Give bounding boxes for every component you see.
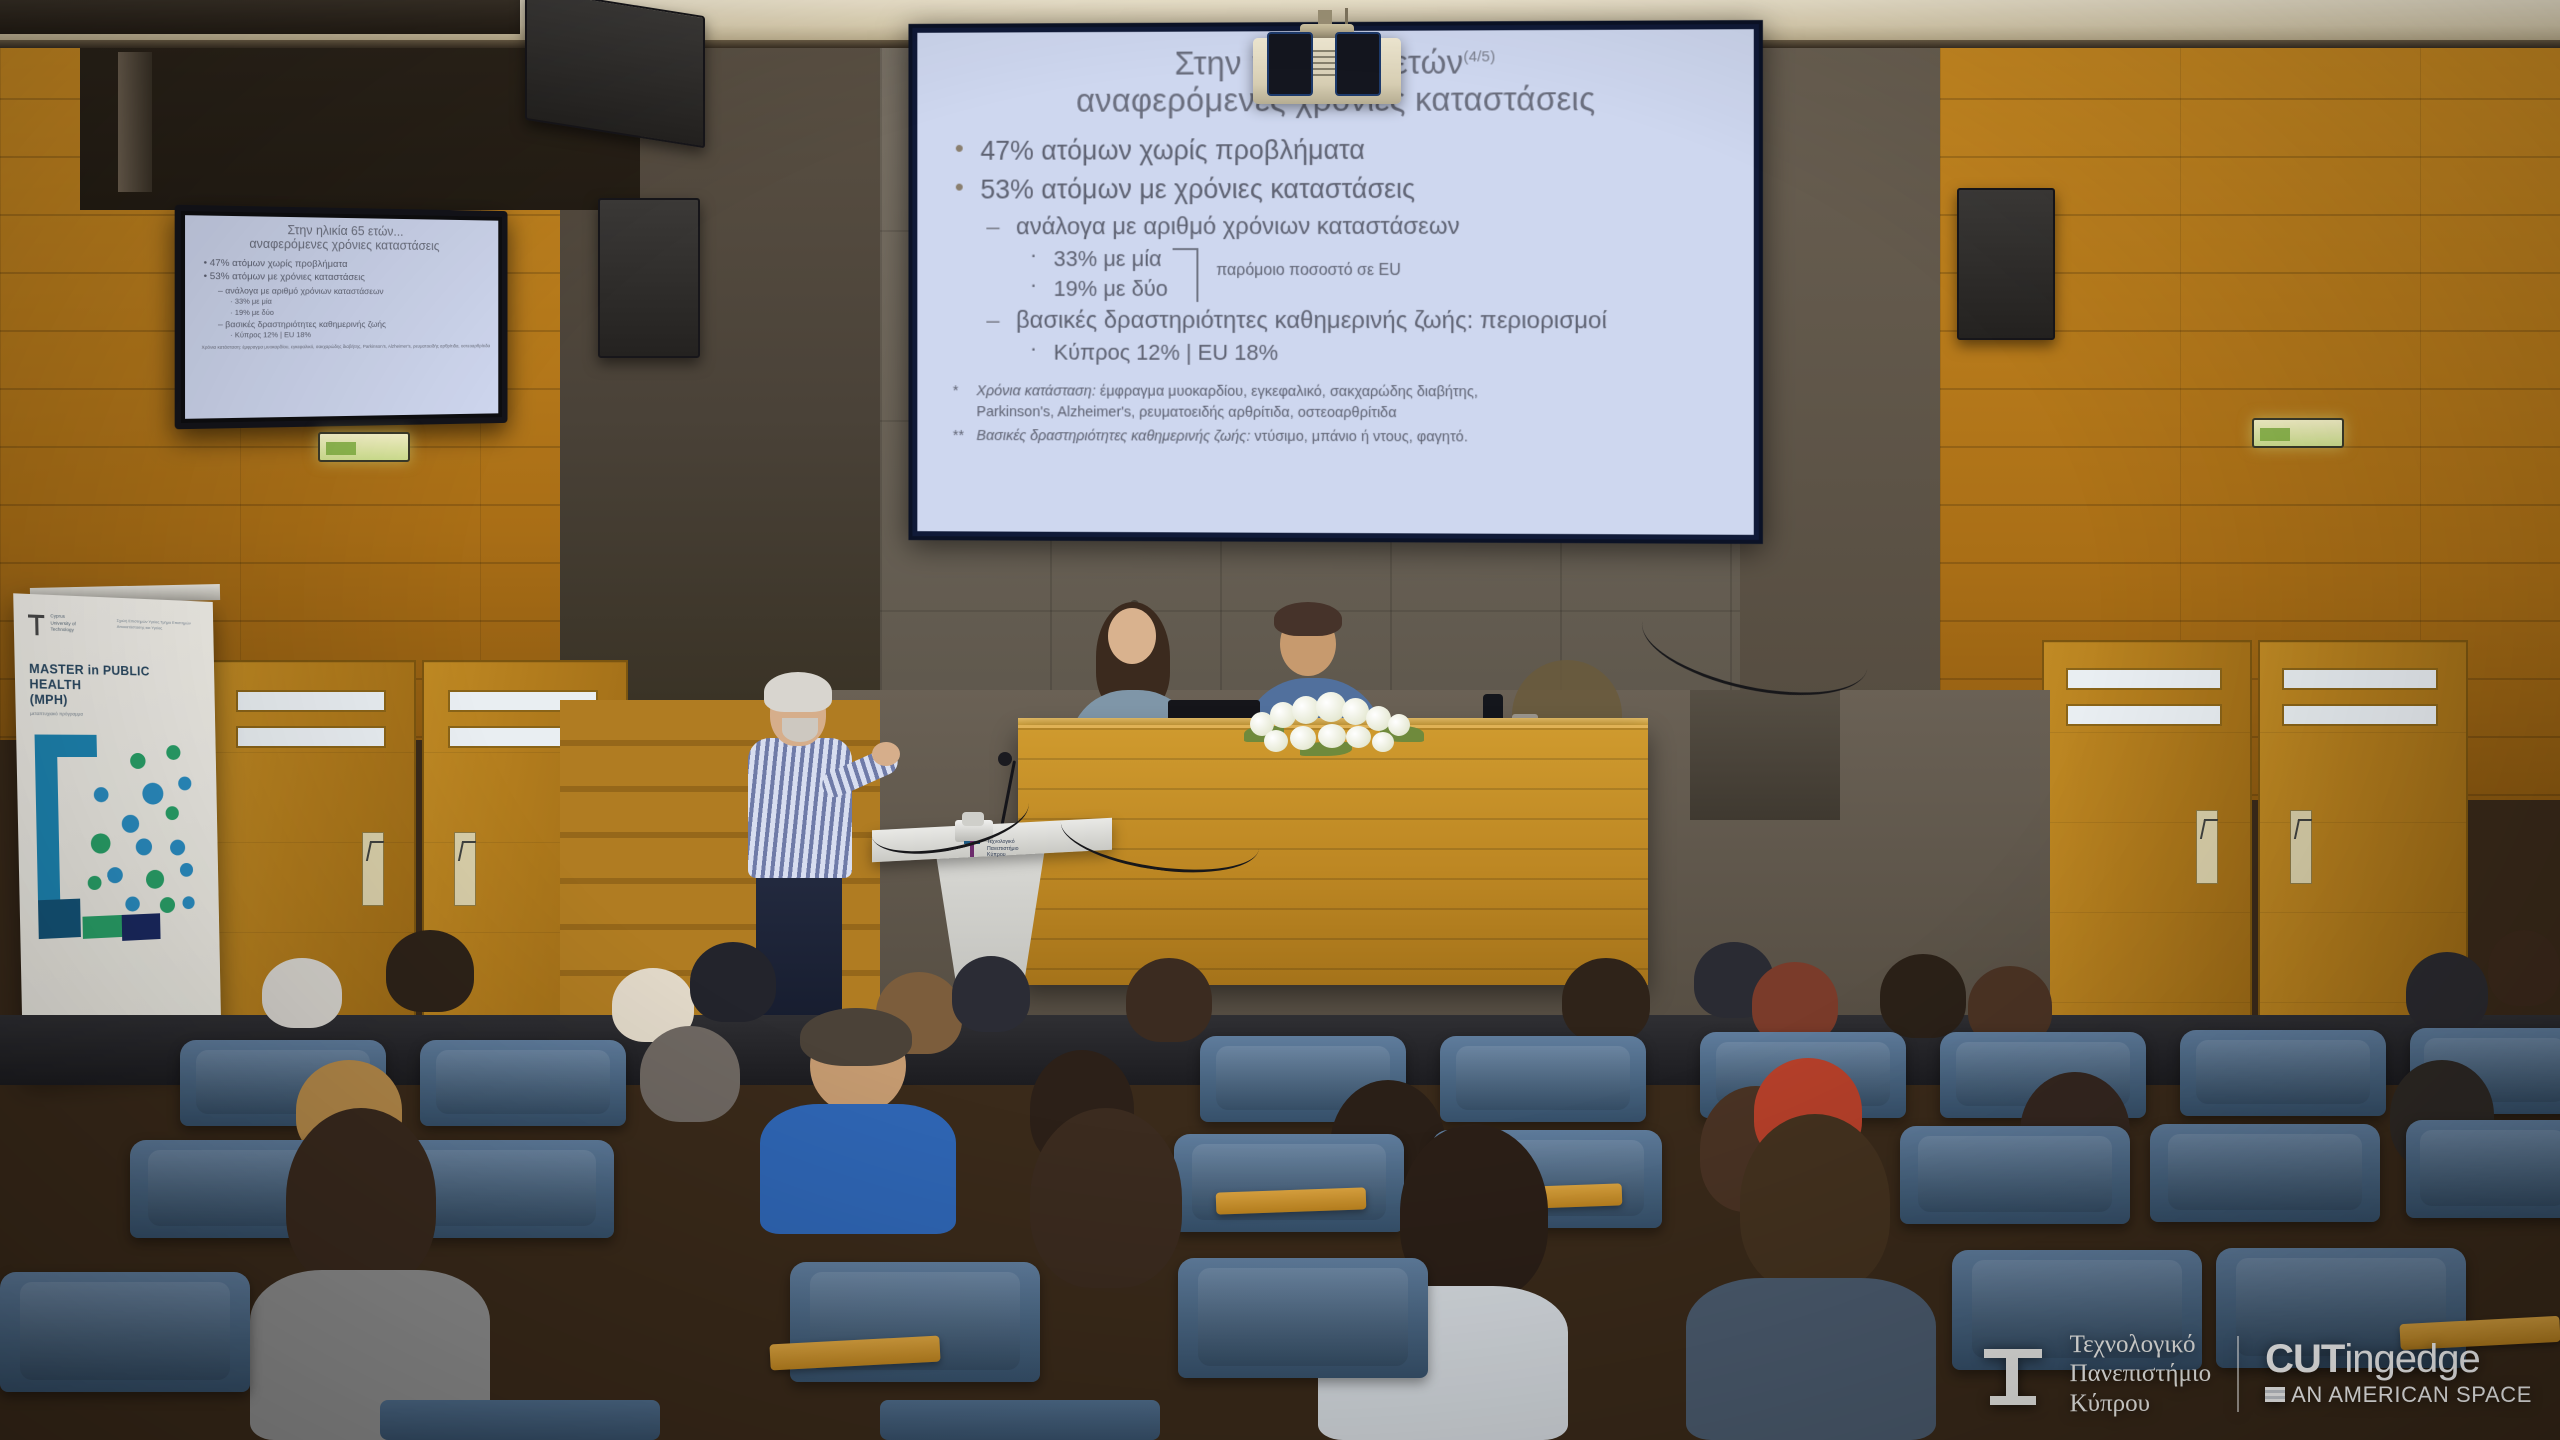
banner-title-line1: MASTER in PUBLIC HEALTH [29,662,202,695]
audience-head [286,1108,436,1288]
audience-hair [800,1008,912,1066]
bullet-item: 47% ατόμων χωρίς προβλήματα [943,130,1732,171]
lecture-hall-scene: Στην ηλικία 65 ετών(4/5) αναφερόμενες χρ… [0,0,2560,1440]
seat[interactable] [2180,1030,2386,1116]
ceiling-dark-left [0,0,520,34]
microphone-icon [998,752,1012,766]
monitor-line: – ανάλογα με αριθμό χρόνιων καταστάσεων [193,284,491,298]
audience-head [690,942,776,1022]
bullet-item: ανάλογα με αριθμό χρόνιων καταστάσεων [943,209,1732,244]
audience-head [952,956,1030,1032]
brace-annotation: παρόμοιο ποσοστό σε EU [1216,262,1400,280]
university-line2: Πανεπιστήμιο [2070,1359,2212,1389]
panelist-head [1108,608,1156,664]
door-leaf[interactable] [2042,640,2252,1060]
flag-icon [2265,1387,2285,1402]
audience-head [386,930,474,1012]
brand-tagline: AN AMERICAN SPACE [2291,1382,2532,1408]
footnote-text: ντύσιμο, μπάνιο ή ντους, φαγητό. [1250,429,1468,446]
footnote-text-line2: Parkinson's, Alzheimer's, ρευματοειδής α… [976,403,1731,427]
brand-bold: CUT [2265,1337,2344,1381]
audience-head [1030,1108,1182,1288]
confidence-monitor: Στην ηλικία 65 ετών... αναφερόμενες χρόν… [175,205,508,430]
audience-head [2488,930,2560,1006]
footnote-marker: * [953,381,959,403]
footnote-marker: ** [953,426,964,448]
bullet-item: Κύπρος 12% | EU 18% [943,337,1732,368]
podium-logo-line3: Κύπρου [987,852,1019,859]
door-handle-plate[interactable] [2196,810,2218,884]
door-handle-plate[interactable] [362,832,384,906]
university-name: Τεχνολογικό Πανεπιστήμιο Κύπρου [2070,1330,2212,1419]
cut-emblem-icon [28,612,45,635]
monitor-line: – βασικές δραστηριότητες καθημερινής ζωή… [193,318,491,331]
monitor-line: · Κύπρος 12% | EU 18% [193,330,491,342]
logo-divider [2237,1336,2239,1412]
banner-graphic [30,729,202,971]
banner-org-name: Cyprus University of Technology [50,613,76,634]
side-table [1690,690,1840,820]
seat[interactable] [1440,1036,1646,1122]
ceiling-rail [118,52,152,192]
door-handle-plate[interactable] [2290,810,2312,884]
presenter-hair [764,672,832,712]
seat[interactable] [1178,1258,1428,1378]
monitor-subtitle: αναφερόμενες χρόνιες καταστάσεις [193,236,491,254]
rollup-banner: Cyprus University of Technology Σχολή Επ… [13,593,222,1076]
university-line3: Κύπρου [2070,1389,2212,1419]
brand-thin: ingedge [2344,1337,2479,1381]
seat[interactable] [420,1040,626,1126]
banner-title: MASTER in PUBLIC HEALTH (MPH) [29,662,202,710]
presentation-slide: Στην ηλικία 65 ετών(4/5) αναφερόμενες χρ… [917,29,1753,535]
footnote-term: Χρόνια κατάσταση: [976,383,1095,399]
footnote-term: Βασικές δραστηριότητες καθημερινής ζωής: [976,428,1250,445]
monitor-footnote: Χρόνια κατάσταση: έμφραγμα μυοκαρδίου, ε… [193,343,491,351]
audience-head [2406,952,2488,1032]
loudspeaker-wall-right [1957,188,2055,340]
brand-tagline-row: AN AMERICAN SPACE [2265,1382,2532,1408]
audience-head [1880,954,1966,1038]
seat[interactable] [2150,1124,2380,1222]
banner-subtitle: μεταπτυχιακό πρόγραμμα [30,711,202,718]
brace-group: 33% με μία 19% με δύο παρόμοιο ποσοστό σ… [943,244,1732,304]
audience-head [1740,1114,1890,1292]
audience-body [1686,1278,1936,1440]
audience-head [1562,958,1650,1042]
presenter-torso [748,738,852,878]
exit-sign-right [2252,418,2344,448]
brand-logo-bar: Τεχνολογικό Πανεπιστήμιο Κύπρου CUTinged… [1982,1330,2532,1419]
seat[interactable] [1900,1126,2130,1224]
monitor-screen: Στην ηλικία 65 ετών... αναφερόμενες χρόν… [185,215,498,419]
seat[interactable] [2406,1120,2560,1218]
slide-footnote: * Χρόνια κατάσταση: έμφραγμα μυοκαρδίου,… [943,381,1732,426]
footnote-text: έμφραγμα μυοκαρδίου, εγκεφαλικό, σακχαρώ… [1096,383,1478,400]
brace-icon [1173,248,1199,302]
audience-head [262,958,342,1028]
slide-bullet-list: 47% ατόμων χωρίς προβλήματα 53% ατόμων μ… [943,130,1732,368]
projection-surface: Στην ηλικία 65 ετών(4/5) αναφερόμενες χρ… [917,29,1753,535]
monitor-line: · 33% με μία [193,297,491,308]
flower-arrangement [1240,690,1430,756]
audience-head [640,1026,740,1122]
banner-org-line3: Technology [51,627,76,635]
slide-page-fraction: (4/5) [1463,48,1495,65]
projector-icon [1253,38,1401,104]
seat-base[interactable] [880,1400,1160,1440]
projector-lens-right [1335,32,1381,96]
university-line1: Τεχνολογικό [2070,1330,2212,1360]
bullet-item: 53% ατόμων με χρόνιες καταστάσεις [943,170,1732,211]
door-handle-plate[interactable] [454,832,476,906]
seat[interactable] [0,1272,250,1392]
seat[interactable] [1174,1134,1404,1232]
slide-footnote: ** Βασικές δραστηριότητες καθημερινής ζω… [943,426,1732,450]
banner-green-block [82,915,122,939]
cutingedge-brand: CUTingedge AN AMERICAN SPACE [2265,1340,2532,1408]
loudspeaker-wall-left [598,198,700,358]
presenter-hand [872,742,900,766]
exit-sign-left [318,432,410,462]
projector-lens-left [1267,32,1313,96]
panelist-hair [1274,602,1342,636]
bullet-item: βασικές δραστηριότητες καθημερινής ζωής:… [943,303,1732,338]
presenter-beard [782,718,818,742]
cut-emblem-icon [1982,1343,2044,1405]
banner-bracket-shape [38,899,81,939]
brand-wordmark: CUTingedge [2265,1340,2532,1379]
banner-title-line2: (MPH) [30,692,202,709]
podium-logo-line1: Τεχνολογικό [987,839,1019,846]
seat-base[interactable] [380,1400,660,1440]
podium-logo-text: Τεχνολογικό Πανεπιστήμιο Κύπρου [987,839,1019,859]
banner-navy-block [122,914,161,942]
audience-head [1126,958,1212,1042]
audience-body [760,1104,956,1234]
monitor-line: · 19% με δύο [193,307,491,318]
